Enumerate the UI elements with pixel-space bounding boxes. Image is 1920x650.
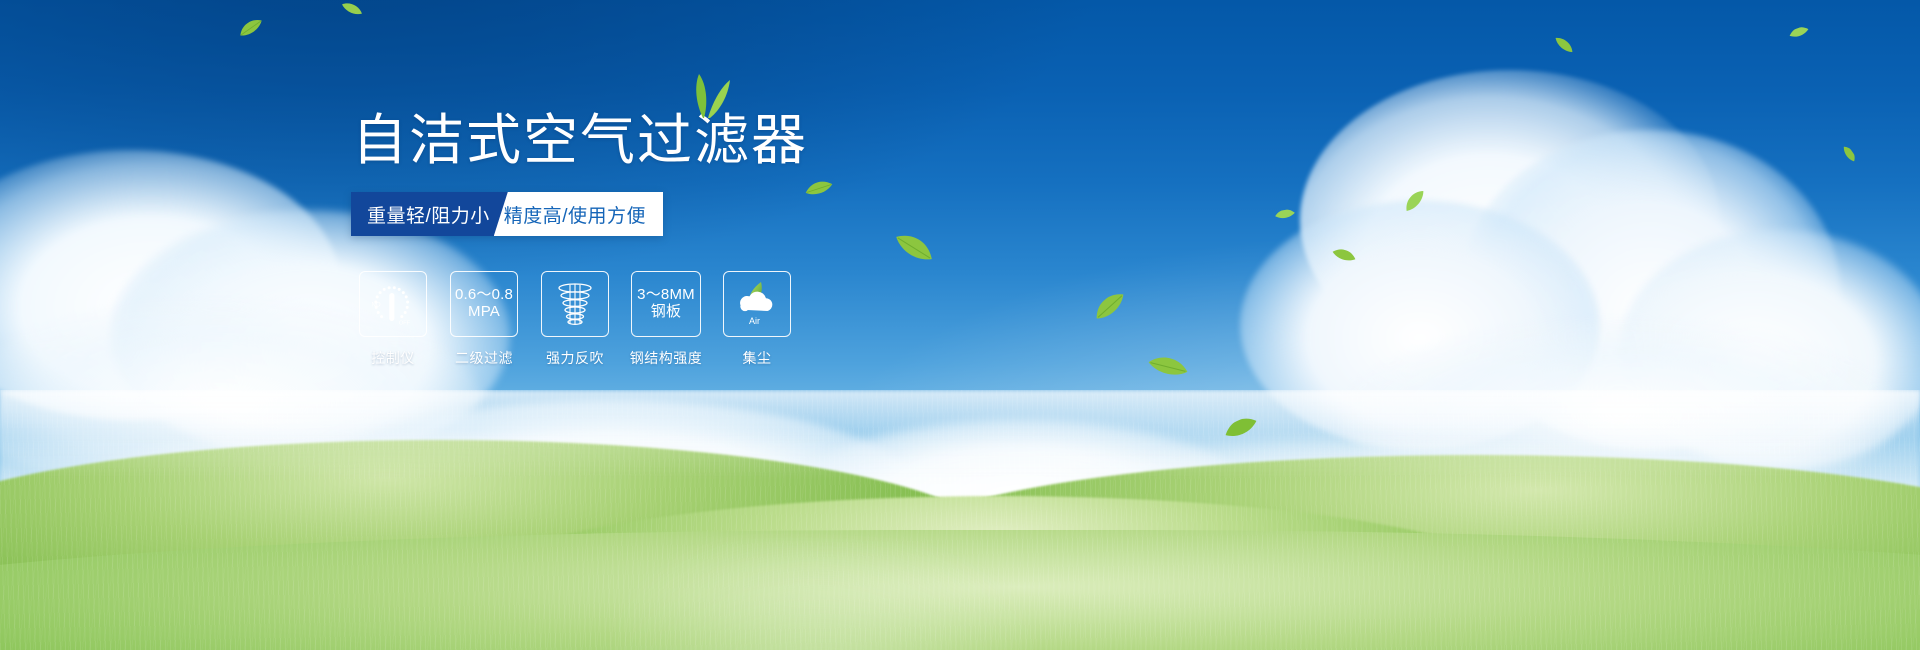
feature-item-blowback[interactable]: 强力反吹: [540, 271, 610, 368]
feature-icon-box: [541, 271, 609, 337]
sprout-leaf-icon: [682, 74, 730, 123]
feature-item-controller[interactable]: NO OFF 控制仪: [358, 271, 428, 368]
feature-icon-box: NO OFF: [359, 271, 427, 337]
feature-item-dust-collection[interactable]: Air 集尘: [722, 271, 792, 368]
feature-item-two-stage-filter[interactable]: 0.6～0.8 MPA 二级过滤: [449, 271, 519, 368]
feature-icon-box: Air: [723, 271, 791, 337]
page-title: 自洁式空气过滤器: [352, 112, 808, 170]
coil-blowback-icon: [550, 279, 600, 329]
feature-label: 控制仪: [371, 348, 415, 368]
gauge-no-label: NO: [372, 303, 381, 309]
air-cloud-icon: Air: [731, 279, 783, 329]
feature-label: 强力反吹: [546, 348, 604, 368]
feature-icon-row: NO OFF 控制仪 0.6～0.8 MPA 二级过滤: [358, 271, 792, 368]
tagline-primary: 重量轻/阻力小: [351, 192, 508, 236]
banner-headline-group: 自洁式空气过滤器: [352, 112, 808, 170]
pressure-value-line1: 0.6～0.8: [455, 287, 513, 304]
steel-spec-line1: 3～8MM: [637, 287, 695, 304]
steel-spec-line2: 钢板: [651, 304, 681, 321]
tagline-secondary: 精度高/使用方便: [494, 192, 663, 236]
feature-icon-box: 3～8MM 钢板: [631, 271, 701, 337]
feature-label: 钢结构强度: [630, 348, 703, 368]
feature-label: 集尘: [743, 348, 772, 368]
gauge-off-label: OFF: [399, 321, 411, 327]
pressure-value-line2: MPA: [468, 304, 500, 321]
product-banner: 自洁式空气过滤器 重量轻/阻力小 精度高/使用方便: [0, 0, 1920, 650]
feature-item-steel-strength[interactable]: 3～8MM 钢板 钢结构强度: [631, 271, 701, 368]
gauge-icon: NO OFF: [366, 279, 420, 329]
air-label: Air: [749, 316, 760, 326]
tagline-badge: 重量轻/阻力小 精度高/使用方便: [351, 192, 663, 236]
feature-icon-box: 0.6～0.8 MPA: [450, 271, 518, 337]
feature-label: 二级过滤: [455, 348, 513, 368]
